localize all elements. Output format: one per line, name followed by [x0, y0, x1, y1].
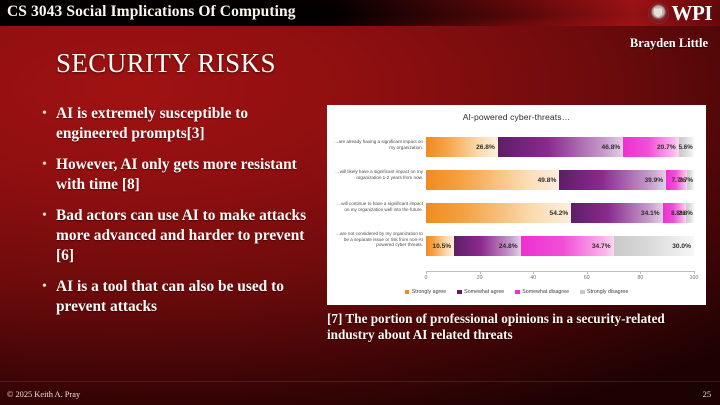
axis-tick [640, 271, 641, 274]
bar-segment: 2.8% [686, 203, 694, 223]
bar-segment: 54.2% [426, 203, 571, 223]
page-title: SECURITY RISKS [56, 48, 276, 79]
bar-segment: 26.8% [426, 137, 498, 157]
legend-swatch-icon [580, 290, 585, 295]
chart-category-label: …are not considered by my organization t… [331, 231, 423, 248]
chart-category-label: …will likely have a significant impact o… [331, 169, 423, 180]
chart-x-axis: 020406080100 [426, 271, 694, 283]
chart-bar-row: …will continue to have a significant imp… [327, 203, 706, 227]
bar-value-label: 10.5% [432, 243, 454, 250]
axis-tick-label: 100 [690, 275, 699, 281]
axis-tick [694, 271, 695, 274]
axis-tick [426, 271, 427, 274]
bullet-text: AI is extremely susceptible to engineere… [56, 104, 320, 144]
bar-segment: 24.8% [454, 236, 520, 256]
bullet-text: However, AI only gets more resistant wit… [56, 155, 320, 195]
chart-title: AI-powered cyber-threats… [327, 112, 706, 122]
bar-segment: 20.7% [623, 137, 678, 157]
legend-label: Strongly agree [412, 289, 446, 295]
chart-figure: AI-powered cyber-threats… …are already h… [327, 105, 706, 305]
chart-bar-row: …are already having a significant impact… [327, 137, 706, 161]
bar-segment: 30.0% [614, 236, 694, 256]
bullet-marker-icon: • [42, 277, 56, 297]
bar-segment: 34.1% [571, 203, 662, 223]
copyright-text: © 2025 Keith A. Pray [7, 390, 80, 399]
axis-tick-label: 20 [477, 275, 483, 281]
axis-tick [480, 271, 481, 274]
list-item: • AI is a tool that can also be used to … [42, 277, 320, 317]
bar-segment: 46.8% [498, 137, 623, 157]
legend-swatch-icon [515, 290, 520, 295]
bar-value-label: 24.8% [499, 243, 521, 250]
presentation-slide: CS 3043 Social Implications Of Computing… [0, 0, 720, 405]
legend-item: Strongly disagree [580, 289, 628, 295]
figure-caption: [7] The portion of professional opinions… [327, 311, 709, 342]
legend-item: Somewhat agree [457, 289, 504, 295]
legend-swatch-icon [405, 290, 410, 295]
bar-value-label: 54.2% [550, 210, 572, 217]
wpi-seal-icon [648, 3, 669, 24]
bar-value-label: 26.8% [476, 144, 498, 151]
legend-label: Strongly disagree [587, 289, 628, 295]
axis-tick-label: 40 [530, 275, 536, 281]
bar-segment: 10.5% [426, 236, 454, 256]
bar-value-label: 39.9% [644, 177, 666, 184]
chart-legend: Strongly agreeSomewhat agreeSomewhat dis… [327, 289, 706, 295]
page-number: 25 [703, 390, 711, 399]
wpi-logo-text: WPI [672, 3, 713, 24]
axis-tick-label: 0 [425, 275, 428, 281]
chart-category-label: …will continue to have a significant imp… [331, 201, 423, 212]
axis-line [426, 271, 694, 272]
chart-bar-row: …are not considered by my organization t… [327, 236, 706, 260]
bar-segment: 34.7% [521, 236, 614, 256]
axis-tick [587, 271, 588, 274]
list-item: • Bad actors can use AI to make attacks … [42, 206, 320, 266]
chart-category-label: …are already having a significant impact… [331, 139, 423, 150]
bullet-marker-icon: • [42, 155, 56, 175]
bar-value-label: 46.8% [602, 144, 624, 151]
legend-swatch-icon [457, 290, 462, 295]
stacked-bar: 26.8%46.8%20.7%5.6% [426, 137, 694, 157]
wpi-logo: WPI [648, 1, 713, 25]
bar-segment: 2.7% [687, 170, 694, 190]
chart-bar-row: …will likely have a significant impact o… [327, 170, 706, 194]
stacked-bar: 54.2%34.1%8.8%2.8% [426, 203, 694, 223]
bullet-marker-icon: • [42, 206, 56, 226]
legend-item: Somewhat disagree [515, 289, 569, 295]
bullet-marker-icon: • [42, 104, 56, 124]
bar-value-label: 2.7% [679, 177, 694, 184]
footer-divider [0, 381, 720, 382]
bar-segment: 39.9% [559, 170, 666, 190]
legend-label: Somewhat disagree [522, 289, 569, 295]
stacked-bar: 10.5%24.8%34.7%30.0% [426, 236, 694, 256]
slide-header-bar: CS 3043 Social Implications Of Computing… [0, 0, 720, 26]
bar-segment: 5.6% [679, 137, 694, 157]
list-item: • AI is extremely susceptible to enginee… [42, 104, 320, 144]
course-title: CS 3043 Social Implications Of Computing [7, 3, 296, 21]
bullet-list: • AI is extremely susceptible to enginee… [42, 104, 320, 328]
stacked-bar: 49.8%39.9%7.7%2.7% [426, 170, 694, 190]
bar-segment: 49.8% [426, 170, 559, 190]
bar-value-label: 5.6% [679, 144, 694, 151]
legend-label: Somewhat agree [464, 289, 504, 295]
axis-tick-label: 80 [638, 275, 644, 281]
bar-value-label: 2.8% [679, 210, 694, 217]
bar-value-label: 20.7% [657, 144, 679, 151]
bar-value-label: 49.8% [538, 177, 560, 184]
legend-item: Strongly agree [405, 289, 446, 295]
bar-value-label: 30.0% [672, 243, 694, 250]
axis-tick-label: 60 [584, 275, 590, 281]
bar-value-label: 34.1% [641, 210, 663, 217]
axis-tick [533, 271, 534, 274]
bullet-text: AI is a tool that can also be used to pr… [56, 277, 320, 317]
list-item: • However, AI only gets more resistant w… [42, 155, 320, 195]
author-name: Brayden Little [630, 36, 708, 51]
bullet-text: Bad actors can use AI to make attacks mo… [56, 206, 320, 266]
bar-value-label: 34.7% [592, 243, 614, 250]
